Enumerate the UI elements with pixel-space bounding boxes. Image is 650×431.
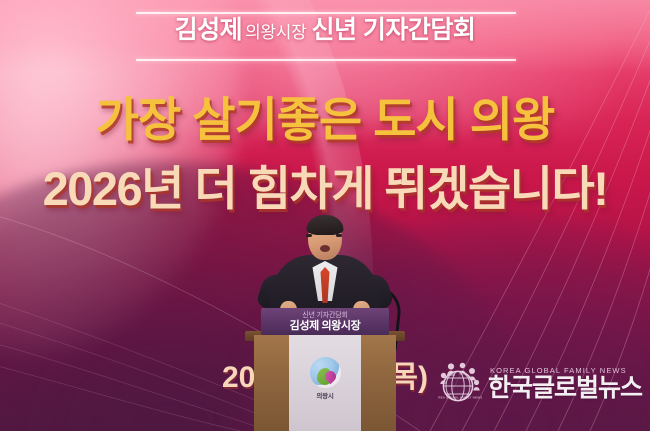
podium-plate-name: 김성제 의왕시장 [290,321,361,332]
podium-plate-event: 신년 기자간담회 [302,312,347,319]
emblem-label: 의왕시 [316,390,333,400]
podium-name-plate: 신년 기자간담회 김성제 의왕시장 [261,308,389,335]
speaker-right-eye [336,234,342,237]
speaker-mouth [320,245,330,252]
header-rule-top [136,12,516,14]
speaker-left-eye [306,234,312,237]
watermark-korean-name: 한국글로벌뉴스 [488,376,642,401]
news-watermark: KOREA GLOBAL FAMILY NEWS KOREA GLOBAL FA… [438,361,642,405]
header-title: 김성제의왕시장신년 기자간담회 [0,18,650,43]
header-mayor-role: 의왕시장 [245,23,306,42]
svg-text:KOREA GLOBAL FAMILY NEWS: KOREA GLOBAL FAMILY NEWS [438,396,482,400]
speaker-hair [307,215,344,235]
globe-people-logo-icon: KOREA GLOBAL FAMILY NEWS [438,361,482,405]
press-conference-photo: 김성제의왕시장신년 기자간담회 가장 살기좋은 도시 의왕 2026년 더 힘차… [0,0,650,431]
header-rule-bottom [136,59,516,61]
slogan-line-2: 2026년 더 힘차게 뛰겠습니다! [0,165,650,212]
emblem-globe-icon [310,357,341,388]
header-mayor-name: 김성제 [175,16,243,44]
watermark-text: KOREA GLOBAL FAMILY NEWS 한국글로벌뉴스 [488,366,642,401]
uiwang-city-emblem: 의왕시 [306,357,344,401]
header-event-name: 신년 기자간담회 [311,16,475,44]
slogan-line-1: 가장 살기좋은 도시 의왕 [0,96,650,143]
